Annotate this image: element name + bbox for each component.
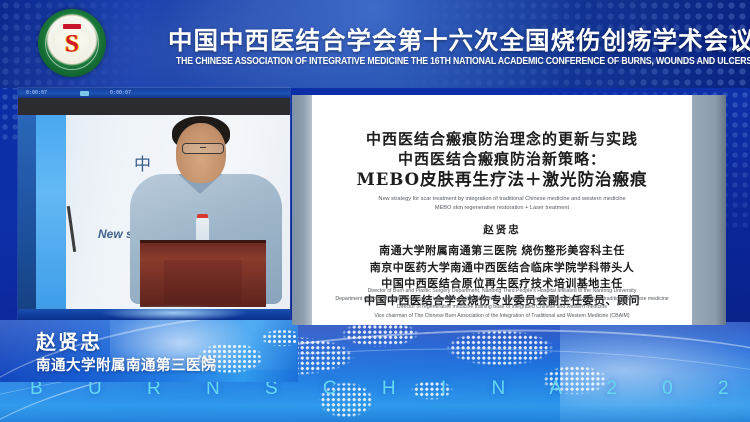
slide-subtitle-en-line-1: New strategy for scar treatment by integ… [322, 195, 682, 204]
conference-logo-icon: S CAIM [38, 9, 106, 77]
speaker-organization: 南通大学附属南通第三医院 [36, 354, 216, 375]
page-title: 中国中西医结合学会第十六次全国烧伤创疡学术会议 [168, 22, 743, 57]
speaker-lower-third: 赵贤忠 南通大学附属南通第三医院 [0, 320, 298, 382]
slide-title-line-3: MEBO皮肤再生疗法＋激光防治瘢痕 [312, 169, 692, 191]
slide-affiliation-item: 南京中医药大学南通中西医结合临床学院学科带头人 [312, 260, 692, 277]
stage-left-wall [18, 115, 36, 320]
slide-left-border [292, 95, 312, 325]
slide-subtitle-english: New strategy for scar treatment by integ… [322, 195, 682, 213]
speaker-video-feed[interactable]: 0:00:07 0:00:07 中 西 结 合 New st [18, 88, 290, 320]
logo-red-banner [63, 24, 81, 29]
logo-arc-text: CAIM [38, 66, 106, 70]
video-letterbox [18, 98, 290, 115]
slide-affiliation-en-item: Vice chairman of The Chinese Burn Associ… [318, 312, 686, 320]
video-player-icon[interactable] [80, 91, 89, 96]
slide-right-border [692, 95, 726, 325]
footer-light-glow [560, 322, 750, 422]
speaker-glasses [182, 143, 224, 154]
slide-subtitle-en-line-2: MEBO skin regenerative restoration + Las… [322, 204, 682, 213]
page-subtitle: THE CHINESE ASSOCIATION OF INTEGRATIVE M… [176, 55, 742, 66]
slide-affiliations-english: Director of Burn and Plastic Surgery Dep… [318, 287, 686, 320]
speaker-name: 赵贤忠 [36, 326, 102, 355]
slide-affiliation-en-item: Director of Burn and Plastic Surgery Dep… [318, 287, 686, 295]
slide-affiliation-en-item: Department director of Nantong college o… [318, 295, 686, 303]
podium-front-panel [164, 260, 242, 304]
logo-s-glyph: S [65, 32, 79, 57]
presentation-slide-panel[interactable]: 中西医结合瘢痕防治理念的更新与实践 中西医结合瘢痕防治新策略： MEBO皮肤再生… [292, 95, 726, 325]
video-bottom-frame [18, 309, 290, 320]
video-current-time: 0:00:07 [26, 88, 47, 98]
video-timecode-bar[interactable]: 0:00:07 0:00:07 [18, 88, 290, 98]
video-bottom-flare [100, 305, 250, 320]
slide-title-line-2: 中西医结合瘢痕防治新策略： [312, 149, 692, 169]
slide-title: 中西医结合瘢痕防治理念的更新与实践 中西医结合瘢痕防治新策略： MEBO皮肤再生… [312, 129, 692, 191]
conference-header: S CAIM 中国中西医结合学会第十六次全国烧伤创疡学术会议 THE CHINE… [0, 0, 750, 88]
slide-affiliation-en-item: Director of regenerative medicine traini… [318, 303, 686, 311]
projection-blue-strip [36, 115, 66, 309]
presentation-slide: 中西医结合瘢痕防治理念的更新与实践 中西医结合瘢痕防治新策略： MEBO皮肤再生… [312, 95, 692, 325]
slide-title-line-1: 中西医结合瘢痕防治理念的更新与实践 [312, 129, 692, 149]
slide-author-name: 赵贤忠 [312, 222, 692, 237]
video-total-time: 0:00:07 [110, 88, 131, 98]
broadcast-stage: B U R N S C H I N A 2 0 2 0 S CAIM 中国中西医… [0, 0, 750, 422]
slide-affiliation-item: 南通大学附属南通第三医院 烧伤整形美容科主任 [312, 243, 692, 260]
